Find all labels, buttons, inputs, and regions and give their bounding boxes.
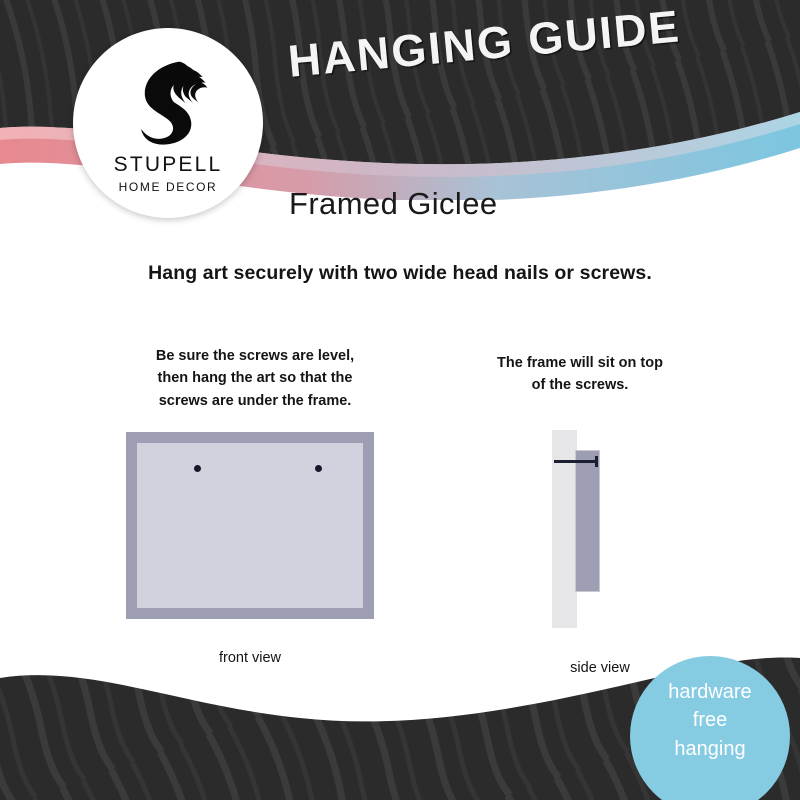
front-instruction-line-2: then hang the art so that the [120,367,390,389]
brand-logo-badge: STUPELL HOME DECOR [73,28,263,218]
side-view-screw-shaft-icon [554,460,597,463]
front-view-instructions: Be sure the screws are level, then hang … [120,345,390,412]
brand-tagline: HOME DECOR [119,181,218,193]
front-instruction-line-3: screws are under the frame. [120,390,390,412]
side-view-instructions: The frame will sit on top of the screws. [460,352,700,397]
hanging-guide-page: STUPELL HOME DECOR HANGING GUIDE Framed … [0,0,800,800]
badge-line-2: free [693,706,727,734]
badge-line-3: hanging [674,735,745,763]
stupell-swoosh-logo-icon [120,54,216,150]
front-instruction-line-1: Be sure the screws are level, [120,345,390,367]
brand-name: STUPELL [114,154,223,175]
screw-dot-left-icon [194,465,201,472]
side-view-screw-head-icon [595,456,598,467]
front-view-mat [137,443,363,608]
side-view-diagram [552,430,648,628]
badge-line-1: hardware [668,678,751,706]
front-view-diagram [126,432,374,619]
screw-dot-right-icon [315,465,322,472]
side-instruction-line-1: The frame will sit on top [460,352,700,374]
side-view-frame [575,450,600,592]
side-instruction-line-2: of the screws. [460,374,700,396]
product-name: Framed Giclee [289,186,498,222]
lead-instruction: Hang art securely with two wide head nai… [0,262,800,285]
